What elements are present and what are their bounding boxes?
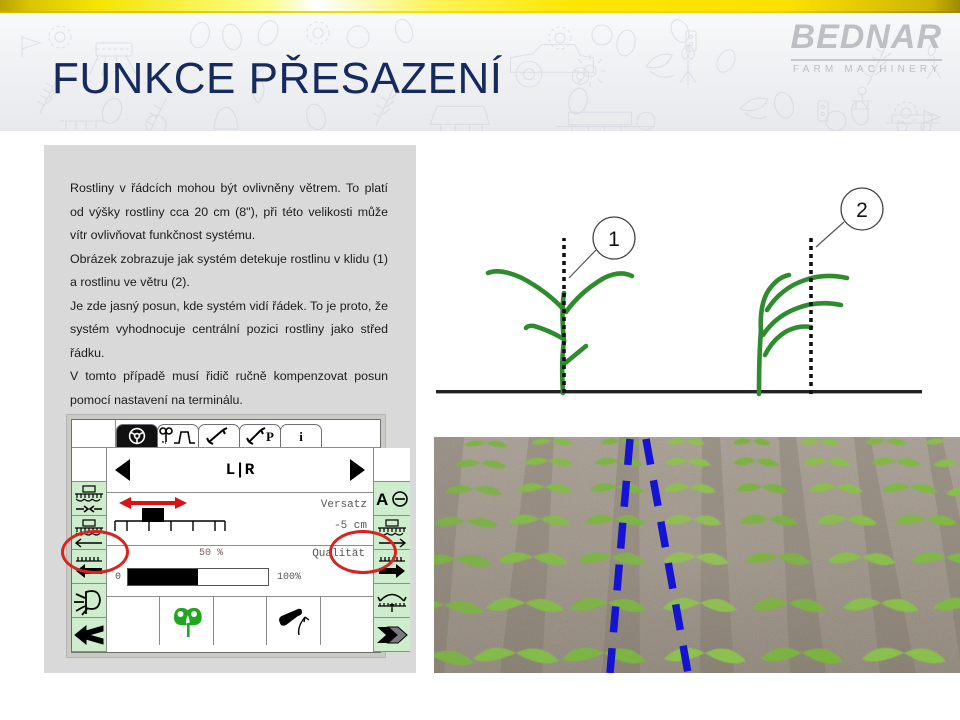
paragraph: Rostliny v řádcích mohou být ovlivněny v…	[70, 177, 388, 248]
quality-label: Qualität	[312, 548, 365, 560]
terminal-left-buttons	[72, 448, 107, 652]
left-button-blank	[72, 448, 106, 482]
tab-label-info: i	[299, 430, 303, 443]
quality-progress-bar	[127, 568, 269, 586]
right-button-implement-right[interactable]	[374, 516, 410, 550]
sensor-lamp-icon	[72, 586, 106, 616]
depth-control-icon	[375, 587, 409, 615]
paragraph: V tomto případě musí řidič ručně kompenz…	[70, 365, 388, 412]
nav-prev-arrow[interactable]	[115, 459, 130, 481]
hoe-tool-icon	[275, 605, 311, 637]
versatz-label: Versatz	[257, 499, 367, 511]
implement-right-icon	[375, 518, 409, 548]
implement-center-icon	[72, 484, 106, 514]
right-button-auto-mode[interactable]: A	[374, 482, 410, 516]
tab-info[interactable]: i	[280, 424, 322, 447]
terminal-screenshot: P i	[66, 414, 386, 658]
right-button-row-shift-right[interactable]	[374, 550, 410, 584]
left-button-sensor-lamp[interactable]	[72, 584, 106, 618]
tab-wrench-p[interactable]: P	[239, 424, 281, 447]
row-shift-right-icon	[375, 554, 409, 580]
left-button-implement-center[interactable]	[72, 482, 106, 516]
right-button-forward-arrow[interactable]	[374, 618, 410, 652]
right-button-blank	[374, 448, 410, 482]
logo-divider	[791, 59, 942, 61]
plant-wind-diagram: 1 2	[430, 150, 960, 415]
right-button-depth-control[interactable]	[374, 584, 410, 618]
tab-strip-spacer	[72, 420, 116, 447]
quality-min-label: 0	[115, 572, 121, 583]
versatz-value: -5 cm	[257, 520, 367, 532]
svg-text:A: A	[376, 490, 388, 509]
description-text: Rostliny v řádcích mohou být ovlivněny v…	[70, 177, 388, 412]
terminal-bottom-buttons	[107, 597, 373, 645]
left-button-implement-left[interactable]	[72, 516, 106, 550]
quality-percent-label: 50 %	[199, 548, 223, 559]
quality-progress-fill	[128, 569, 198, 585]
page-title: FUNKCE PŘESAZENÍ	[52, 57, 503, 101]
callout-1-text: 1	[608, 228, 620, 251]
terminal-nav-row: L|R	[107, 448, 373, 493]
terminal-body: L|R	[72, 448, 380, 652]
left-content-panel: Rostliny v řádcích mohou být ovlivněny v…	[44, 145, 416, 673]
tab-label-p: P	[266, 430, 274, 443]
bottom-button-empty-2[interactable]	[214, 597, 267, 645]
back-arrow-icon	[72, 622, 106, 648]
implement-left-icon	[72, 518, 106, 548]
slide-header: FUNKCE PŘESAZENÍ BEDNAR FARM MACHINERY	[0, 0, 960, 131]
bottom-button-empty-1[interactable]	[107, 597, 160, 645]
nav-mode-label: L|R	[226, 461, 255, 479]
quality-max-label: 100%	[277, 572, 301, 583]
left-button-row-shift-left[interactable]	[72, 550, 106, 584]
row-shift-left-icon	[72, 554, 106, 580]
terminal-right-buttons: A	[373, 448, 410, 652]
corn-field-photo	[434, 437, 960, 673]
versatz-graph	[107, 493, 257, 545]
logo-tagline: FARM MACHINERY	[791, 64, 942, 75]
seedling-icon	[172, 605, 202, 637]
tab-steering-wheel[interactable]	[116, 424, 158, 447]
yellow-accent-bar	[0, 0, 960, 11]
quality-bar-wrapper: 0 100%	[115, 568, 367, 586]
terminal-quality-row: 50 % Qualität 0 100%	[107, 546, 373, 597]
versatz-values: Versatz -5 cm	[257, 493, 373, 545]
callout-2-text: 2	[856, 199, 868, 222]
auto-mode-icon: A	[374, 488, 410, 510]
forward-arrow-icon	[374, 622, 410, 648]
left-button-back-arrow[interactable]	[72, 618, 106, 652]
tab-plant-profile[interactable]	[157, 424, 199, 447]
terminal-tab-strip: P i	[72, 420, 380, 448]
terminal-screen: P i	[71, 419, 381, 653]
nav-next-arrow[interactable]	[350, 459, 365, 481]
paragraph: Je zde jasný posun, kde systém vidí řáde…	[70, 295, 388, 366]
bottom-button-seedling[interactable]	[160, 597, 213, 645]
bottom-button-empty-3[interactable]	[321, 597, 373, 645]
paragraph: Obrázek zobrazuje jak systém detekuje ro…	[70, 248, 388, 295]
bednar-logo: BEDNAR FARM MACHINERY	[791, 20, 942, 75]
terminal-center: L|R	[107, 448, 373, 652]
terminal-versatz-row: Versatz -5 cm	[107, 493, 373, 546]
tab-wrench[interactable]	[198, 424, 240, 447]
bottom-button-hoe-tool[interactable]	[267, 597, 320, 645]
logo-wordmark: BEDNAR	[791, 20, 942, 54]
